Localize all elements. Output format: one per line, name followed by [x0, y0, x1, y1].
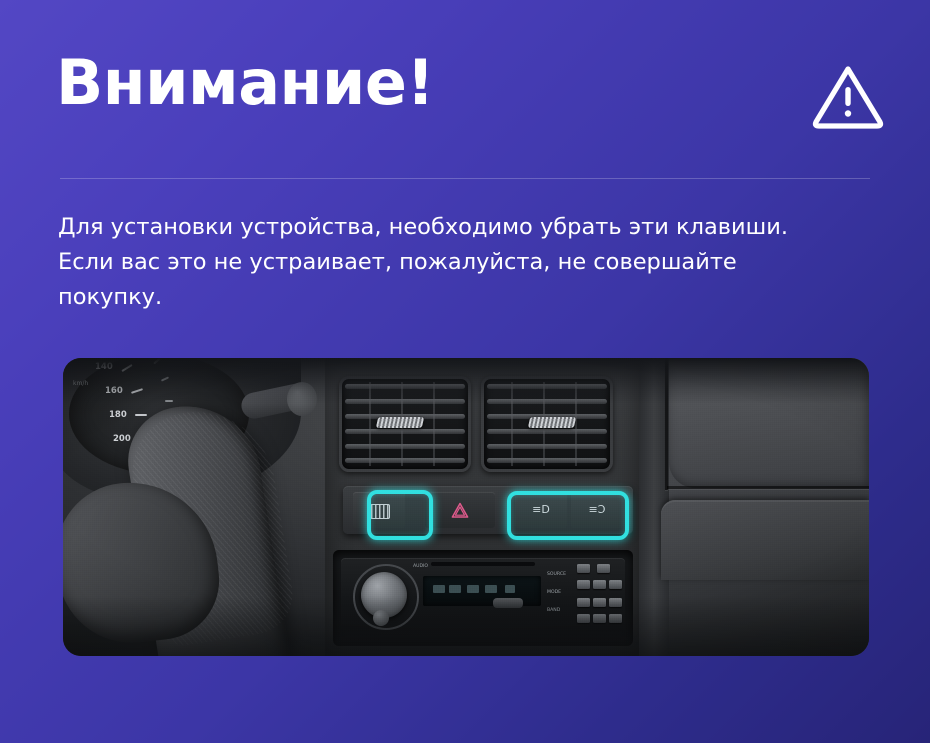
notice-line-2: Если вас это не устраивает, пожалуйста, … [58, 245, 878, 280]
hazard-triangle-icon [451, 502, 469, 519]
glovebox-panel [661, 500, 869, 580]
stereo-function-label: SOURCE [547, 572, 566, 577]
cd-slot [431, 562, 535, 566]
preset-button[interactable] [577, 580, 590, 589]
vent-adjust-knob [376, 417, 424, 428]
photo-bottom-shade [63, 596, 869, 656]
notice-text: Для установки устройства, необходимо убр… [58, 210, 878, 315]
stereo-function-label: MODE [547, 590, 561, 595]
highlight-fog-light-buttons [507, 491, 629, 540]
notice-line-1: Для установки устройства, необходимо убр… [58, 210, 878, 245]
notice-line-3: покупку. [58, 280, 878, 315]
stereo-brand-label: AUDIO [413, 564, 428, 569]
page-header: Внимание! [0, 0, 930, 178]
dash-seam [667, 486, 869, 489]
preset-button[interactable] [593, 580, 606, 589]
highlight-defogger-button [367, 490, 433, 540]
warning-notice-page: Внимание! Для установки устройства, необ… [0, 0, 930, 743]
warning-triangle-icon [812, 62, 884, 130]
vent-adjust-knob [528, 417, 576, 428]
car-dashboard-photo: km/h 140 160 180 200 [63, 358, 869, 656]
preset-button[interactable] [597, 564, 610, 573]
preset-button[interactable] [609, 580, 622, 589]
preset-button[interactable] [577, 564, 590, 573]
header-divider [60, 178, 870, 179]
photo-top-shade [63, 358, 869, 404]
hazard-light-button[interactable] [425, 492, 495, 528]
page-title: Внимание! [56, 52, 434, 114]
